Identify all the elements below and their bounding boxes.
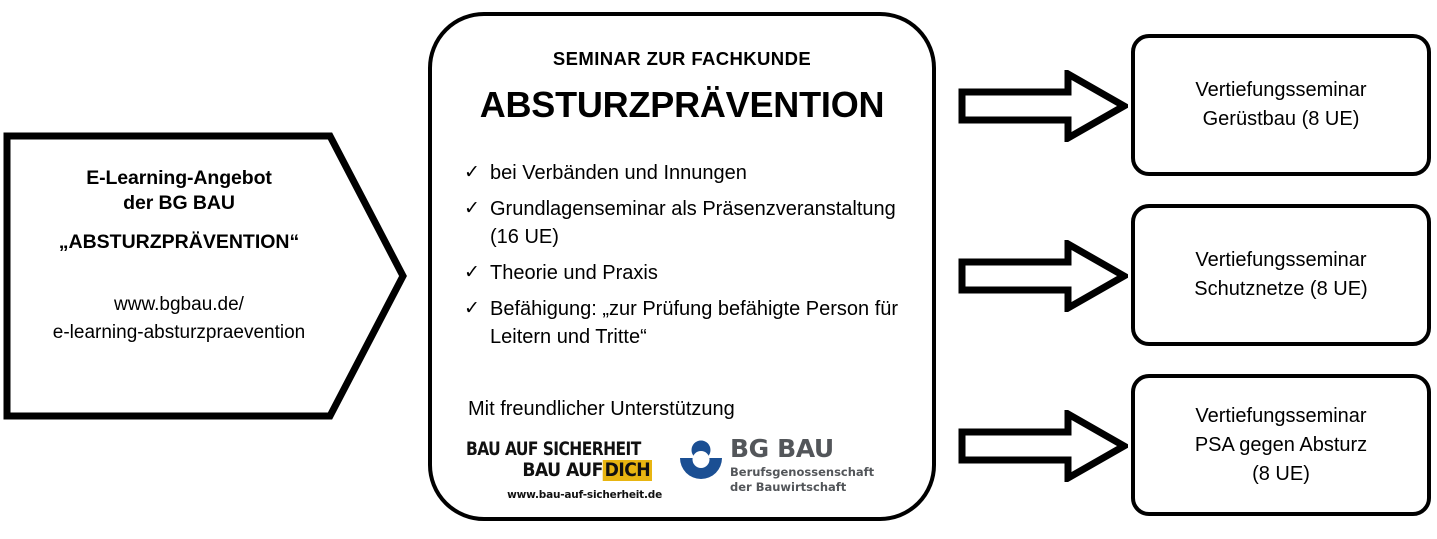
pentagon-line-2: der BG BAU — [14, 191, 344, 216]
bullet-text: Grundlagenseminar als Präsenzveranstaltu… — [490, 195, 912, 251]
right-arrow-icon — [958, 240, 1128, 312]
box-line-2: PSA gegen Absturz — [1195, 431, 1367, 460]
check-icon: ✓ — [464, 195, 490, 223]
bg-bau-mark-icon — [678, 438, 724, 482]
right-arrow-icon — [958, 410, 1128, 482]
seminar-center-card: SEMINAR ZUR FACHKUNDE ABSTURZPRÄVENTION … — [428, 12, 936, 521]
list-item: ✓ Grundlagenseminar als Präsenzveranstal… — [464, 195, 912, 251]
box-vertiefungsseminar-geruestbau[interactable]: Vertiefungsseminar Gerüstbau (8 UE) — [1131, 34, 1431, 176]
list-item: ✓ Befähigung: „zur Prüfung befähigte Per… — [464, 295, 912, 351]
support-label: Mit freundlicher Unterstützung — [468, 398, 735, 421]
check-icon: ✓ — [464, 295, 490, 323]
pentagon-url-line-2[interactable]: e-learning-absturzpraevention — [14, 319, 344, 347]
box-line-1: Vertiefungsseminar — [1195, 402, 1367, 431]
seminar-kicker: SEMINAR ZUR FACHKUNDE — [432, 48, 932, 70]
seminar-headline: ABSTURZPRÄVENTION — [432, 84, 932, 126]
box-text: Vertiefungsseminar Gerüstbau (8 UE) — [1195, 76, 1366, 134]
bullet-text: Theorie und Praxis — [490, 259, 658, 287]
box-text: Vertiefungsseminar Schutznetze (8 UE) — [1194, 246, 1367, 304]
diagram-canvas: E-Learning-Angebot der BG BAU „ABSTURZPR… — [0, 0, 1437, 539]
box-line-1: Vertiefungsseminar — [1194, 246, 1367, 275]
check-icon: ✓ — [464, 159, 490, 187]
check-icon: ✓ — [464, 259, 490, 287]
bg-bau-sub-line-1: Berufsgenossenschaft — [730, 465, 874, 480]
bas-line-1: BAU AUF SICHERHEIT — [466, 440, 652, 459]
box-line-3: (8 UE) — [1195, 460, 1367, 489]
pentagon-line-1: E-Learning-Angebot — [14, 166, 344, 191]
bullet-text: bei Verbänden und Innungen — [490, 159, 747, 187]
box-text: Vertiefungsseminar PSA gegen Absturz (8 … — [1195, 402, 1367, 489]
box-vertiefungsseminar-psa[interactable]: Vertiefungsseminar PSA gegen Absturz (8 … — [1131, 374, 1431, 516]
pentagon-url-line-1[interactable]: www.bgbau.de/ — [14, 291, 344, 319]
arrow-to-geruestbau — [958, 70, 1128, 142]
bg-bau-wordmark: BG BAU Berufsgenossenschaft der Bauwirts… — [730, 436, 874, 494]
list-item: ✓ bei Verbänden und Innungen — [464, 159, 912, 187]
bg-bau-sub-line-2: der Bauwirtschaft — [730, 480, 874, 495]
e-learning-pentagon: E-Learning-Angebot der BG BAU „ABSTURZPR… — [0, 130, 412, 422]
box-line-2: Schutznetze (8 UE) — [1194, 275, 1367, 304]
list-item: ✓ Theorie und Praxis — [464, 259, 912, 287]
box-line-2: Gerüstbau (8 UE) — [1195, 105, 1366, 134]
bullet-text: Befähigung: „zur Prüfung befähigte Perso… — [490, 295, 912, 351]
pentagon-text-block: E-Learning-Angebot der BG BAU „ABSTURZPR… — [14, 166, 344, 347]
arrow-to-schutznetze — [958, 240, 1128, 312]
bas-line-2: BAU AUFDICH — [466, 461, 652, 480]
box-vertiefungsseminar-schutznetze[interactable]: Vertiefungsseminar Schutznetze (8 UE) — [1131, 204, 1431, 346]
box-line-1: Vertiefungsseminar — [1195, 76, 1366, 105]
logo-row: BAU AUF SICHERHEIT BAU AUFDICH www.bau-a… — [466, 440, 906, 526]
seminar-bullet-list: ✓ bei Verbänden und Innungen ✓ Grundlage… — [464, 159, 912, 359]
bas-line-2-prefix: BAU AUF — [522, 460, 602, 481]
arrow-to-psa — [958, 410, 1128, 482]
bg-bau-logo: BG BAU Berufsgenossenschaft der Bauwirts… — [678, 436, 898, 494]
bau-auf-sicherheit-logo: BAU AUF SICHERHEIT BAU AUFDICH www.bau-a… — [466, 440, 666, 501]
pentagon-line-3: „ABSTURZPRÄVENTION“ — [14, 230, 344, 255]
bas-url[interactable]: www.bau-auf-sicherheit.de — [466, 489, 666, 501]
bas-line-2-highlight: DICH — [603, 460, 652, 481]
right-arrow-icon — [958, 70, 1128, 142]
bg-bau-name: BG BAU — [730, 436, 874, 462]
